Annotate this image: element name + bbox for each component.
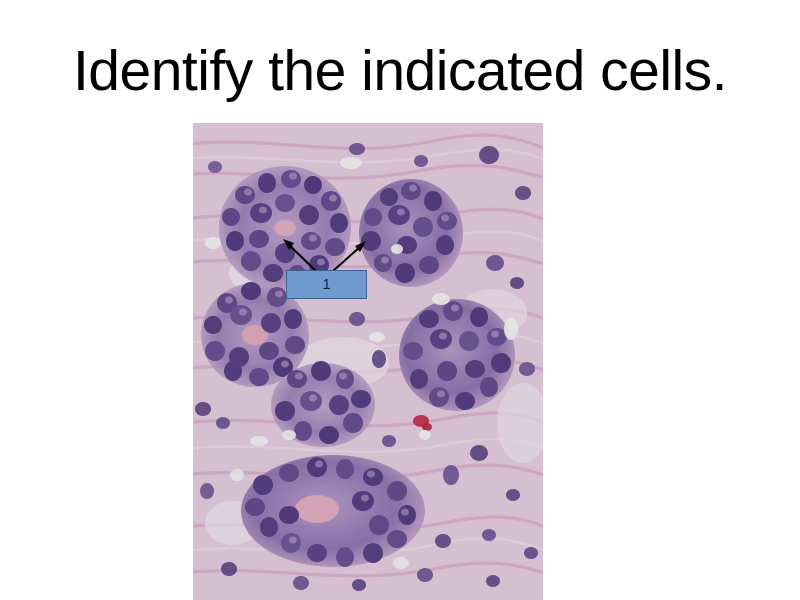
histology-micrograph: [193, 123, 543, 600]
micrograph-canvas: [193, 123, 543, 600]
callout-box-1[interactable]: 1: [286, 270, 367, 299]
presentation-slide: Identify the indicated cells.: [0, 0, 800, 600]
page-title: Identify the indicated cells.: [40, 36, 760, 106]
callout-label-1: 1: [322, 277, 330, 292]
